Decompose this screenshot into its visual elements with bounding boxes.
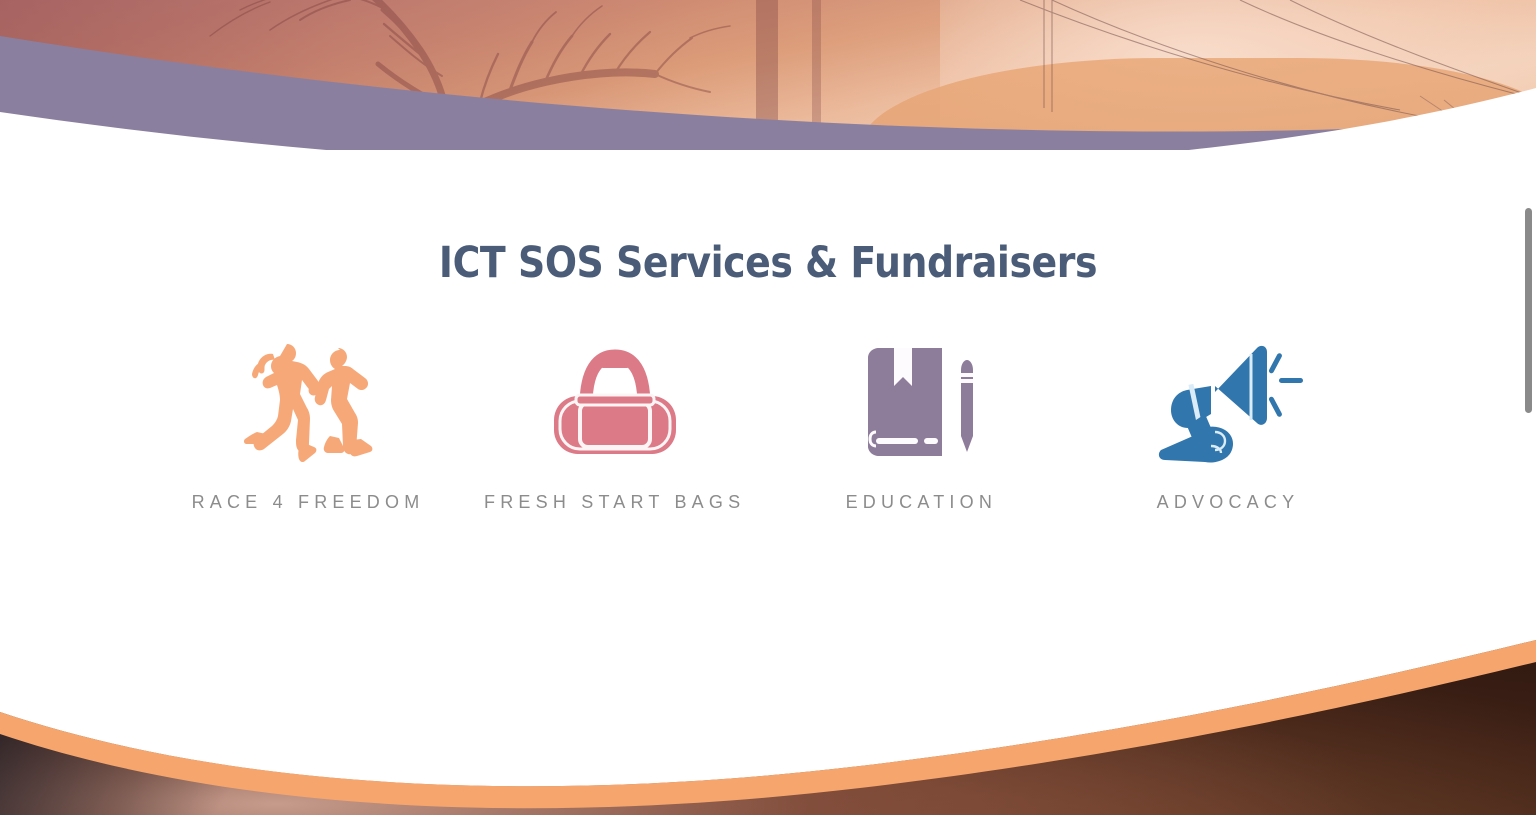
services-section: ICT SOS Services & Fundraisers [0, 150, 1536, 670]
scrollbar-thumb[interactable] [1525, 208, 1532, 413]
service-label-education: Education [846, 492, 997, 513]
service-label-advocacy: Advocacy [1157, 492, 1300, 513]
service-item-education[interactable]: Education [781, 340, 1061, 513]
services-list: Race 4 Freedom [168, 340, 1368, 513]
service-label-fresh-start-bags: Fresh Start Bags [484, 492, 745, 513]
duffel-bag-icon [540, 340, 690, 470]
megaphone-icon [1153, 340, 1303, 470]
book-pencil-icon [846, 340, 996, 470]
hero-photo-banner [0, 0, 1536, 150]
service-item-race-4-freedom[interactable]: Race 4 Freedom [168, 340, 448, 513]
white-card-top-edge [0, 0, 1536, 150]
service-item-fresh-start-bags[interactable]: Fresh Start Bags [475, 340, 755, 513]
orange-wave-divider [0, 600, 1536, 815]
page-title: ICT SOS Services & Fundraisers [92, 238, 1444, 288]
page-scrollbar[interactable] [1522, 0, 1536, 815]
runners-icon [233, 340, 383, 470]
service-item-advocacy[interactable]: Advocacy [1088, 340, 1368, 513]
bottom-photo-banner [0, 600, 1536, 815]
service-label-race-4-freedom: Race 4 Freedom [192, 492, 425, 513]
